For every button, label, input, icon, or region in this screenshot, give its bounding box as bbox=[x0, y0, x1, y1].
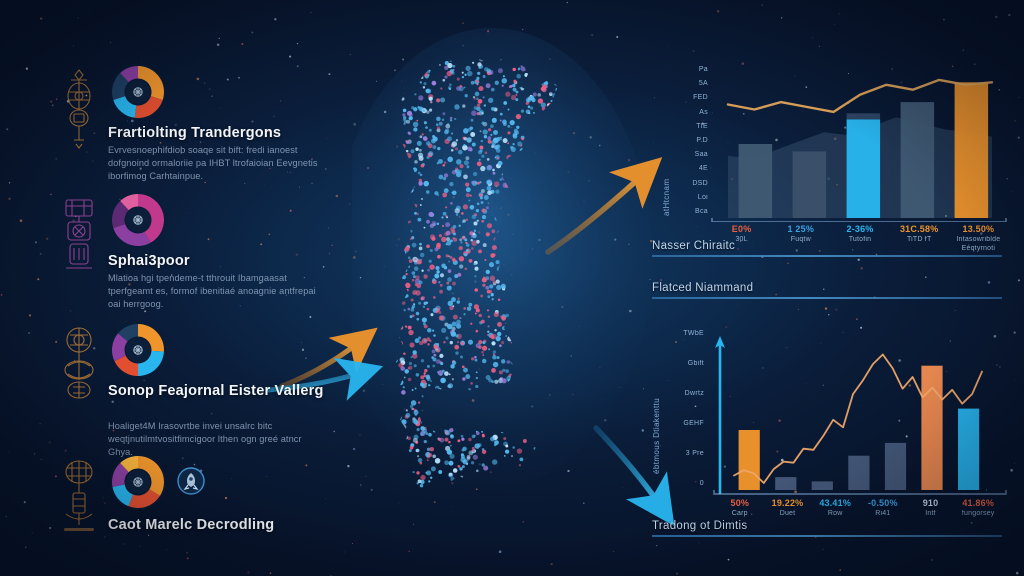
divider-label-2: Flatced Niammand bbox=[652, 282, 1002, 294]
divider-nasser-chiraitc: Nasser Chiraitc bbox=[652, 240, 1002, 257]
y-tick: 3 Pre bbox=[686, 450, 704, 457]
feature-title-2: Sphai3poor bbox=[108, 252, 326, 270]
feature-list: Frartiolting Trandergons Evrvesnoephifdi… bbox=[0, 0, 330, 576]
divider-rule-3 bbox=[652, 535, 1002, 537]
feature-donut-4 bbox=[108, 452, 168, 512]
bottom-chart-yticks: TWbEGbiftDwrtzGEHF3 Pre0 bbox=[668, 330, 704, 488]
bar bbox=[793, 151, 827, 218]
bar bbox=[847, 119, 881, 218]
y-tick: 0 bbox=[700, 480, 704, 487]
y-tick: DSD bbox=[692, 180, 708, 187]
feature-title-4: Caot Marelc Decrodling bbox=[108, 516, 326, 534]
x-category-label: fungorsey bbox=[947, 509, 1009, 518]
ornament-glyph-gamma-icon bbox=[56, 324, 102, 410]
top-chart-ylabel: atHtcnam bbox=[662, 179, 671, 216]
ornament-glyph-delta-icon bbox=[56, 456, 102, 542]
x-category: 41.86% fungorsey bbox=[947, 498, 1009, 518]
divider-label-1: Nasser Chiraitc bbox=[652, 240, 1002, 252]
bar bbox=[885, 443, 906, 490]
divider-label-3: Tradong ot Dimtis bbox=[652, 520, 1002, 532]
y-tick: TIE bbox=[696, 123, 708, 130]
x-category-value: 41.86% bbox=[947, 498, 1009, 508]
feature-donut-3 bbox=[108, 320, 168, 380]
bottom-chart-ylabel: ébtmous Dtiakenttu bbox=[652, 398, 661, 474]
rocket-badge-icon[interactable] bbox=[176, 466, 206, 496]
bar bbox=[812, 481, 833, 490]
bar bbox=[739, 430, 760, 490]
bar bbox=[848, 456, 869, 490]
feature-title-1: Frartiolting Trandergons bbox=[108, 124, 326, 142]
y-tick: Loi bbox=[698, 194, 708, 201]
y-tick: TWbE bbox=[683, 330, 704, 337]
y-axis-arrow bbox=[715, 336, 725, 494]
y-tick: 4E bbox=[699, 165, 708, 172]
bar bbox=[739, 144, 773, 218]
feature-title-3: Sonop Feajornal Eister Vallerg bbox=[108, 382, 326, 400]
top-chart[interactable]: atHtcnam Pa5AFEDAsTIEP.DSaa4EDSDLoiBca E… bbox=[630, 56, 1024, 246]
y-tick: Dwrtz bbox=[685, 390, 704, 397]
divider-tradong-ot-dimtis: Tradong ot Dimtis bbox=[652, 520, 1002, 537]
feature-body-1: Evrvesnoephifdiob soaqe sit bift: fredi … bbox=[108, 144, 323, 183]
x-category-value: 2-36% bbox=[829, 224, 891, 234]
y-tick: 5A bbox=[699, 80, 708, 87]
infographic-canvas: Frartiolting Trandergons Evrvesnoephifdi… bbox=[0, 0, 1024, 576]
y-tick: GEHF bbox=[683, 420, 704, 427]
divider-rule-1 bbox=[652, 255, 1002, 257]
vietnam-dot-density-map[interactable] bbox=[352, 28, 652, 558]
bar bbox=[775, 477, 796, 490]
feature-donut-2 bbox=[108, 190, 168, 250]
feature-donut-1 bbox=[108, 62, 168, 122]
ornament-glyph-beta-icon bbox=[56, 194, 102, 280]
y-tick: Gbift bbox=[688, 360, 704, 367]
x-category-value: E0% bbox=[711, 224, 773, 234]
ornament-glyph-alpha-icon bbox=[56, 66, 102, 152]
divider-flatced-niammand: Flatced Niammand bbox=[652, 282, 1002, 299]
x-category-value: 1 25% bbox=[770, 224, 832, 234]
y-tick: Pa bbox=[699, 66, 708, 73]
bar bbox=[921, 366, 942, 490]
top-chart-plot bbox=[710, 62, 1010, 222]
x-category-value: 13.50% bbox=[947, 224, 1009, 234]
y-tick: As bbox=[699, 109, 708, 116]
bar bbox=[901, 102, 935, 218]
bar bbox=[958, 409, 979, 490]
y-tick: Bca bbox=[695, 208, 708, 215]
bottom-chart[interactable]: ébtmous Dtiakenttu TWbEGbiftDwrtzGEHF3 P… bbox=[630, 322, 1024, 512]
bar bbox=[955, 82, 989, 218]
top-chart-yticks: Pa5AFEDAsTIEP.DSaa4EDSDLoiBca bbox=[674, 66, 708, 211]
x-category-value: 31C.58% bbox=[888, 224, 950, 234]
charts-column: atHtcnam Pa5AFEDAsTIEP.DSaa4EDSDLoiBca E… bbox=[630, 0, 1024, 576]
y-tick: P.D bbox=[696, 137, 708, 144]
divider-rule-2 bbox=[652, 297, 1002, 299]
y-tick: Saa bbox=[695, 151, 708, 158]
feature-body-2: Mlatioa hgi tpendeme-t tthrouit Ibamgaas… bbox=[108, 272, 323, 311]
bottom-chart-plot bbox=[706, 326, 1012, 498]
y-tick: FED bbox=[693, 94, 708, 101]
